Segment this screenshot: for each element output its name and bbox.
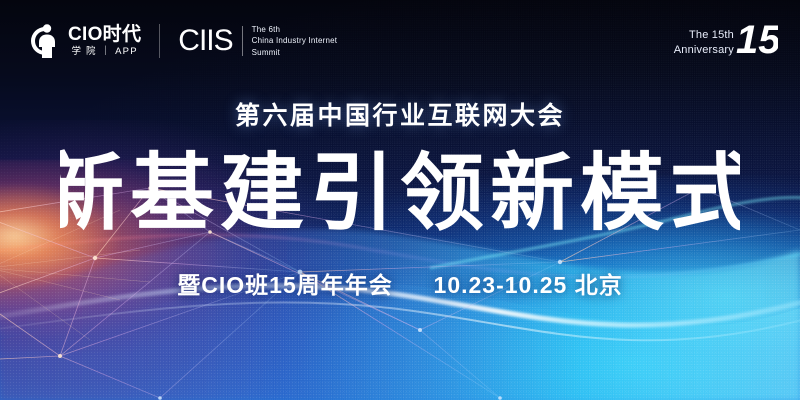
event-kicker-title: 第六届中国行业互联网大会 — [0, 96, 800, 132]
main-headline-art: 新基建引领新模式 — [60, 138, 740, 248]
cio-logo-sub-text: 学 院 ｜ APP — [68, 47, 141, 57]
logo-divider — [159, 24, 160, 58]
ciis-tagline-line-2: China Industry Internet — [252, 35, 338, 47]
person-circle-icon — [28, 22, 62, 60]
cio-logo-main-text: CIO时代 — [68, 25, 141, 44]
event-subline: 暨CIO班15周年年会 10.23-10.25 北京 — [0, 266, 800, 300]
ciis-logo[interactable]: CIIS The 6th China Industry Internet Sum… — [178, 24, 337, 59]
ciis-divider — [242, 26, 243, 56]
main-headline: 新基建引领新模式 — [0, 138, 800, 248]
cio-logo[interactable]: CIO时代 学 院 ｜ APP — [28, 22, 141, 60]
anniversary-text: The 15th Anniversary — [674, 28, 734, 58]
main-headline-text: 新基建引领新模式 — [60, 143, 740, 242]
logo-row: CIO时代 学 院 ｜ APP CIIS The 6th China Indus… — [28, 22, 337, 60]
anniversary-number: 15 — [736, 18, 778, 62]
ciis-tagline-line-1: The 6th — [252, 24, 338, 36]
sub-event-name: 暨CIO班15周年年会 — [177, 272, 392, 298]
ciis-tagline: The 6th China Industry Internet Summit — [252, 24, 338, 59]
ciis-wordmark: CIIS — [178, 26, 232, 56]
anniversary-badge: The 15th Anniversary 15 — [674, 24, 778, 62]
conference-banner: CIO时代 学 院 ｜ APP CIIS The 6th China Indus… — [0, 0, 800, 400]
anniversary-line-2: Anniversary — [674, 43, 734, 58]
sub-event-date-location: 10.23-10.25 北京 — [434, 272, 623, 298]
anniversary-line-1: The 15th — [674, 28, 734, 43]
ciis-tagline-line-3: Summit — [252, 47, 338, 59]
anniversary-15-mark: 15 — [734, 16, 778, 62]
